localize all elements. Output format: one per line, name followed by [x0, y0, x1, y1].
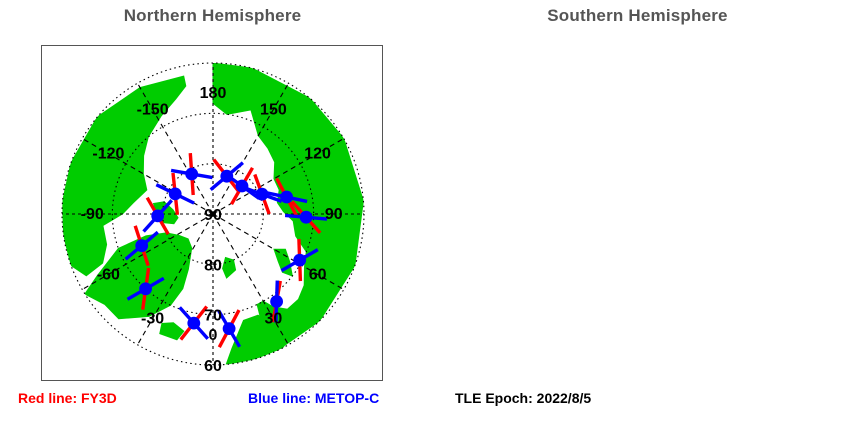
longitude-spoke-label: -150: [137, 101, 169, 118]
satellite-marker[interactable]: [270, 295, 283, 308]
longitude-spoke-label: 60: [309, 266, 327, 283]
satellite-marker[interactable]: [169, 188, 182, 201]
satellite-marker[interactable]: [135, 239, 148, 252]
panel-northern-hemisphere: Northern Hemisphere 90807060030609012015…: [0, 0, 425, 390]
satellite-marker[interactable]: [280, 191, 293, 204]
satellite-marker[interactable]: [139, 282, 152, 295]
longitude-spoke-label: -90: [81, 206, 104, 223]
legend-tle-epoch: TLE Epoch: 2022/8/5: [455, 390, 591, 406]
longitude-spoke-label: -30: [141, 311, 164, 328]
legend-blue-line-metop-c: Blue line: METOP-C: [248, 390, 379, 406]
longitude-spoke-label: 0: [209, 327, 218, 344]
longitude-spoke-label: 120: [304, 146, 331, 163]
latitude-ring-label: 70: [204, 308, 222, 325]
longitude-spoke-label: 30: [265, 311, 283, 328]
satellite-marker[interactable]: [151, 210, 164, 223]
satellite-marker[interactable]: [223, 322, 236, 335]
legend: Red line: FY3D Blue line: METOP-C TLE Ep…: [0, 390, 850, 425]
longitude-spoke-label: 180: [200, 85, 227, 102]
panel-title-southern: Southern Hemisphere: [425, 6, 850, 26]
figure-root: Northern Hemisphere 90807060030609012015…: [0, 0, 850, 425]
longitude-spoke-label: 90: [325, 206, 343, 223]
satellite-marker[interactable]: [185, 168, 198, 181]
satellite-marker[interactable]: [187, 317, 200, 330]
satellite-marker[interactable]: [293, 254, 306, 267]
legend-red-line-fy3d: Red line: FY3D: [18, 390, 117, 406]
polar-plot-northern: 908070600306090120150180-150-120-90-60-3…: [42, 46, 383, 381]
longitude-spoke-label: -120: [92, 146, 124, 163]
longitude-spoke-label: 150: [260, 101, 287, 118]
panel-southern-hemisphere: Southern Hemisphere -90-80-70-6003060901…: [425, 0, 850, 390]
latitude-ring-label: 60: [204, 358, 222, 375]
satellite-marker[interactable]: [236, 180, 249, 193]
latitude-ring-label: 80: [204, 257, 222, 274]
plot-frame-northern: 908070600306090120150180-150-120-90-60-3…: [41, 45, 383, 381]
satellite-marker[interactable]: [300, 211, 313, 224]
latitude-ring-label: 90: [204, 207, 222, 224]
longitude-spoke-label: -60: [97, 266, 120, 283]
panel-title-northern: Northern Hemisphere: [0, 6, 425, 26]
